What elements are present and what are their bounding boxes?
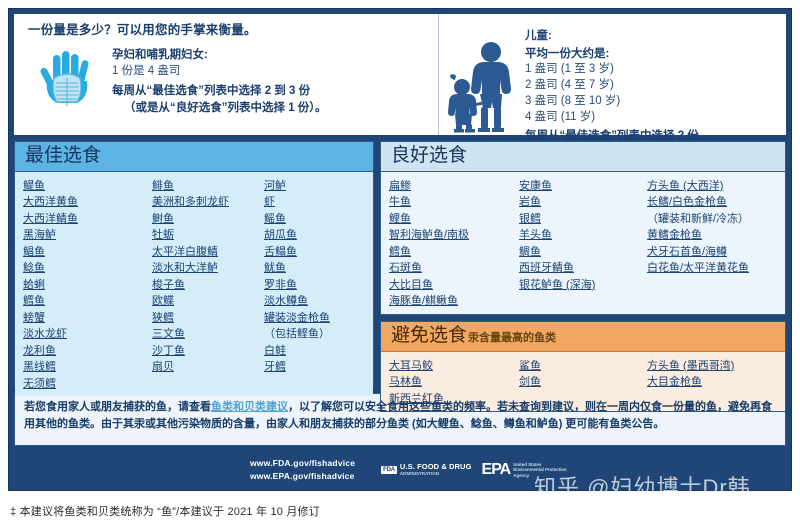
children-portion-2: 2 盎司 (4 至 7 岁): [525, 78, 710, 94]
list-item[interactable]: 鳕鱼: [23, 293, 152, 310]
list-item[interactable]: 三文鱼: [152, 326, 264, 343]
list-item[interactable]: 大耳马鲛: [389, 358, 519, 375]
list-item[interactable]: 鲳鱼: [23, 244, 152, 261]
list-item[interactable]: 大西洋黄鱼: [23, 194, 152, 211]
fda-badge-icon: FDA: [381, 466, 397, 474]
footer-urls: www.FDA.gov/fishadvice www.EPA.gov/fisha…: [250, 457, 355, 483]
best-choices-column-2: 鲱鱼 美洲和多刺龙虾 鲥鱼 牡蛎 太平洋白腹鲭 淡水和大洋鲈 梭子鱼 欧鲽 狭鳕…: [152, 178, 264, 393]
list-item[interactable]: 鲥鱼: [152, 211, 264, 228]
list-item[interactable]: 狭鳕: [152, 310, 264, 327]
list-item[interactable]: 西班牙鲭鱼: [519, 260, 647, 277]
fish-advice-poster: 一份量是多少？可以用您的手掌来衡量。: [8, 8, 792, 491]
two-children-silhouette-icon: [439, 20, 525, 135]
list-item[interactable]: 鲨鱼: [519, 358, 647, 375]
serving-question: 一份量是多少？可以用您的手掌来衡量。: [28, 23, 438, 39]
epa-mark-icon: EPA: [482, 461, 511, 479]
fda-logo-subtext: ADMINISTRATION: [400, 472, 472, 477]
children-title: 儿童:: [525, 28, 710, 45]
list-item[interactable]: 螃蟹: [23, 310, 152, 327]
good-choices-column-3: 方头鱼 (大西洋) 长鳍/白色金枪鱼 （罐装和新鲜/冷冻） 黄鳍金枪鱼 犬牙石首…: [647, 178, 777, 310]
footnote: ‡ 本建议将鱼类和贝类统称为 “鱼”/本建议于 2021 年 10 月修订: [10, 503, 320, 519]
good-choices-column-1: 扁鲹 牛鱼 鲤鱼 智利海鲈鱼/南极 鳕鱼 石斑鱼 大比目鱼 海豚鱼/鲯鳅鱼: [389, 178, 519, 310]
list-item[interactable]: 大比目鱼: [389, 277, 519, 294]
list-item[interactable]: 牙鳕: [264, 359, 365, 376]
list-item[interactable]: 淡水鳟鱼: [264, 293, 365, 310]
list-item[interactable]: 梭子鱼: [152, 277, 264, 294]
avoid-header-subtitle: 汞含量最高的鱼类: [468, 332, 556, 344]
list-item[interactable]: 鲷鱼: [519, 244, 647, 261]
list-item[interactable]: 黑线鳕: [23, 359, 152, 376]
fish-shellfish-advisory-link[interactable]: 鱼类和贝类建议: [211, 401, 288, 413]
list-item[interactable]: 犬牙石首鱼/海鳟: [647, 244, 777, 261]
women-rule-sub: （或是从“良好选食”列表中选择 1 份）。: [112, 100, 327, 117]
children-portion-4: 4 盎司 (11 岁): [525, 110, 710, 126]
fda-logo: FDA U.S. FOOD & DRUGADMINISTRATION: [381, 463, 471, 476]
poster-footer: www.FDA.gov/fishadvice www.EPA.gov/fisha…: [14, 450, 786, 490]
women-portion: 1 份是 4 盎司: [112, 63, 327, 80]
fda-url[interactable]: www.FDA.gov/fishadvice: [250, 457, 355, 470]
list-item[interactable]: 智利海鲈鱼/南极: [389, 227, 519, 244]
list-item[interactable]: 胡瓜鱼: [264, 227, 365, 244]
list-item[interactable]: 石斑鱼: [389, 260, 519, 277]
list-item[interactable]: 罗非鱼: [264, 277, 365, 294]
list-item[interactable]: 蛤蜊: [23, 277, 152, 294]
advisory-note: 若您食用家人或朋友捕获的鱼，请查看鱼类和贝类建议，以了解您可以安全食用这些鱼类的…: [14, 393, 786, 446]
list-item[interactable]: 白鲑: [264, 343, 365, 360]
best-choices-panel: 最佳选食 鳀鱼 大西洋黄鱼 大西洋鲭鱼 黑海鲈 鲳鱼 鲶鱼 蛤蜊 鳕鱼 螃蟹 淡…: [14, 141, 374, 387]
avoid-choices-header: 避免选食汞含量最高的鱼类: [381, 322, 785, 352]
list-item[interactable]: 方头鱼 (墨西哥湾): [647, 358, 777, 375]
list-item[interactable]: 太平洋白腹鲭: [152, 244, 264, 261]
note-part-1: 若您食用家人或朋友捕获的鱼，请查看: [24, 401, 211, 413]
epa-line-3: Agency: [513, 473, 529, 478]
epa-url[interactable]: www.EPA.gov/fishadvice: [250, 470, 355, 483]
list-item[interactable]: 罐装淡金枪鱼: [264, 310, 365, 327]
women-rule: 每周从“最佳选食”列表中选择 2 到 3 份: [112, 83, 327, 100]
best-choices-header: 最佳选食: [15, 142, 373, 172]
children-subtitle: 平均一份大约是:: [525, 46, 710, 63]
list-item[interactable]: 岩鱼: [519, 194, 647, 211]
list-item[interactable]: 淡水龙虾: [23, 326, 152, 343]
best-choices-column-3: 河鲈 虾 鳐鱼 胡瓜鱼 舌鳎鱼 鱿鱼 罗非鱼 淡水鳟鱼 罐装淡金枪鱼 （包括鲣鱼…: [264, 178, 365, 393]
children-serving-section: 儿童: 平均一份大约是: 1 盎司 (1 至 3 岁) 2 盎司 (4 至 7 …: [439, 14, 786, 135]
epa-logo-subtext: United States Environmental Protection A…: [513, 462, 566, 479]
list-item[interactable]: 扁鲹: [389, 178, 519, 195]
list-item[interactable]: 沙丁鱼: [152, 343, 264, 360]
women-serving-section: 一份量是多少？可以用您的手掌来衡量。: [14, 14, 439, 135]
list-item[interactable]: 鳐鱼: [264, 211, 365, 228]
list-item[interactable]: 黑海鲈: [23, 227, 152, 244]
list-item[interactable]: 羊头鱼: [519, 227, 647, 244]
list-item[interactable]: 淡水和大洋鲈: [152, 260, 264, 277]
list-item[interactable]: 龙利鱼: [23, 343, 152, 360]
good-choices-column-2: 安康鱼 岩鱼 银鳕 羊头鱼 鲷鱼 西班牙鲭鱼 银花鲈鱼 (深海): [519, 178, 647, 310]
list-item[interactable]: 大目金枪鱼: [647, 374, 777, 391]
list-item[interactable]: 银花鲈鱼 (深海): [519, 277, 647, 294]
children-portion-1: 1 盎司 (1 至 3 岁): [525, 62, 710, 78]
list-item[interactable]: 虾: [264, 194, 365, 211]
list-item[interactable]: 鳕鱼: [389, 244, 519, 261]
list-item[interactable]: 美洲和多刺龙虾: [152, 194, 264, 211]
list-item-sub: （包括鲣鱼）: [264, 326, 365, 343]
list-item[interactable]: 鲤鱼: [389, 211, 519, 228]
list-item[interactable]: 牛鱼: [389, 194, 519, 211]
children-portion-3: 3 盎司 (8 至 10 岁): [525, 94, 710, 110]
good-choices-header: 良好选食: [381, 142, 785, 172]
list-item[interactable]: 剑鱼: [519, 374, 647, 391]
avoid-header-title: 避免选食: [391, 325, 467, 346]
fda-logo-text: U.S. FOOD & DRUGADMINISTRATION: [400, 463, 472, 476]
list-item[interactable]: 鱿鱼: [264, 260, 365, 277]
list-item[interactable]: 鲱鱼: [152, 178, 264, 195]
epa-line-1: United States: [513, 462, 541, 467]
epa-line-2: Environmental Protection: [513, 467, 566, 472]
good-choices-panel: 良好选食 扁鲹 牛鱼 鲤鱼 智利海鲈鱼/南极 鳕鱼 石斑鱼 大比目鱼 海豚鱼/鲯…: [380, 141, 786, 315]
serving-size-panel: 一份量是多少？可以用您的手掌来衡量。: [14, 14, 786, 135]
list-item[interactable]: 白花鱼/太平洋黄花鱼: [647, 260, 777, 277]
list-item[interactable]: 无须鳕: [23, 376, 152, 393]
best-choices-column-1: 鳀鱼 大西洋黄鱼 大西洋鲭鱼 黑海鲈 鲳鱼 鲶鱼 蛤蜊 鳕鱼 螃蟹 淡水龙虾 龙…: [23, 178, 152, 393]
list-item[interactable]: 安康鱼: [519, 178, 647, 195]
hand-with-fish-fillet-icon: [34, 45, 104, 116]
list-item[interactable]: 方头鱼 (大西洋): [647, 178, 777, 195]
list-item[interactable]: 长鳍/白色金枪鱼: [647, 194, 777, 211]
list-item[interactable]: 马林鱼: [389, 374, 519, 391]
list-item[interactable]: 河鲈: [264, 178, 365, 195]
list-item[interactable]: 欧鲽: [152, 293, 264, 310]
list-item[interactable]: 扇贝: [152, 359, 264, 376]
list-item-sub: （罐装和新鲜/冷冻）: [647, 211, 777, 228]
list-item[interactable]: 鲶鱼: [23, 260, 152, 277]
list-item[interactable]: 鳀鱼: [23, 178, 152, 195]
epa-logo: EPA United States Environmental Protecti…: [482, 461, 567, 479]
women-title: 孕妇和哺乳期妇女:: [112, 47, 327, 64]
list-item[interactable]: 海豚鱼/鲯鳅鱼: [389, 293, 519, 310]
list-item[interactable]: 舌鳎鱼: [264, 244, 365, 261]
list-item[interactable]: 银鳕: [519, 211, 647, 228]
list-item[interactable]: 黄鳍金枪鱼: [647, 227, 777, 244]
list-item[interactable]: 牡蛎: [152, 227, 264, 244]
list-item[interactable]: 大西洋鲭鱼: [23, 211, 152, 228]
